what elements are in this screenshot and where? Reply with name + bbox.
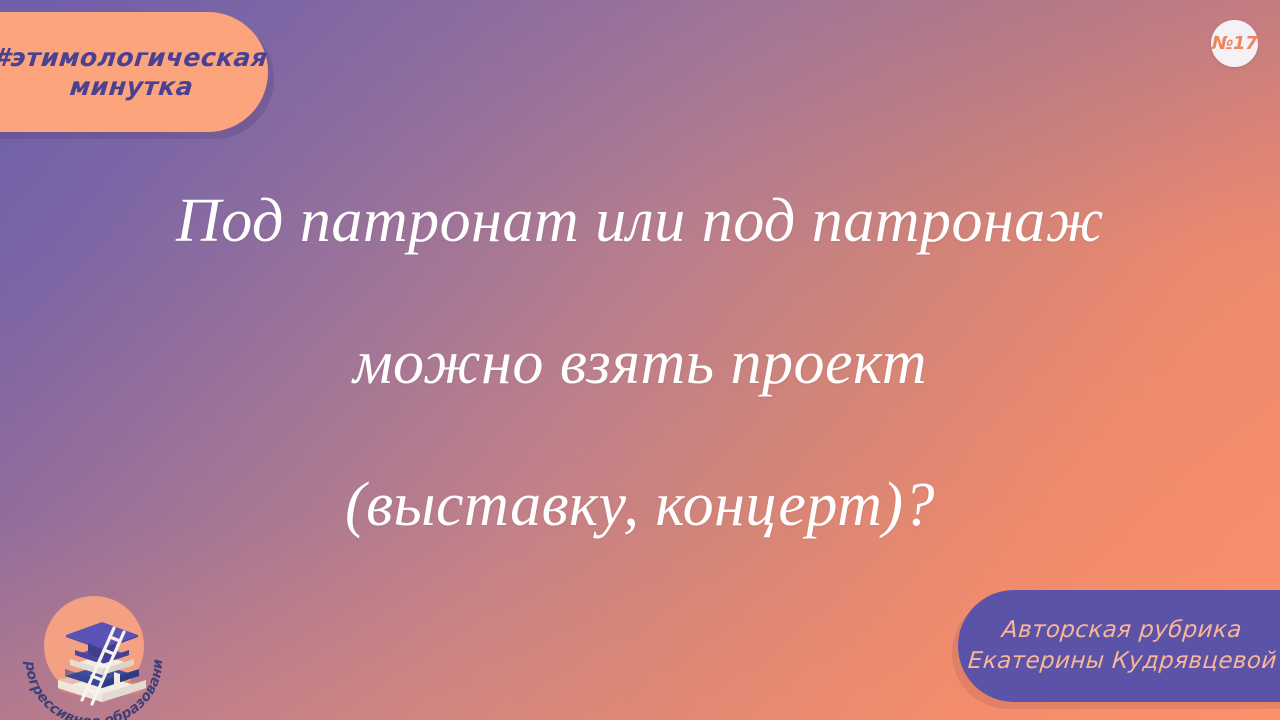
author-line-2: Екатерины Кудрявцевой <box>966 646 1277 677</box>
question-line-3: (выставку, концерт)? <box>0 434 1280 576</box>
author-line-1: Авторская рубрика <box>1001 615 1244 646</box>
brand-logo: Прогрессивное образование <box>10 588 180 720</box>
hashtag-line-2: минутка <box>33 72 195 102</box>
author-badge: Авторская рубрика Екатерины Кудрявцевой <box>958 590 1280 702</box>
hashtag-line-1: #этимологическая <box>0 43 269 73</box>
slide-canvas: #этимологическая минутка №17 Под патрона… <box>0 0 1280 720</box>
question-line-1: Под патронат или под патронаж <box>0 150 1280 292</box>
hashtag-badge: #этимологическая минутка <box>0 12 268 132</box>
question-text: Под патронат или под патронаж можно взят… <box>0 150 1280 576</box>
issue-number-label: №17 <box>1212 33 1257 54</box>
question-line-2: можно взять проект <box>0 292 1280 434</box>
issue-number-badge: №17 <box>1211 20 1258 67</box>
